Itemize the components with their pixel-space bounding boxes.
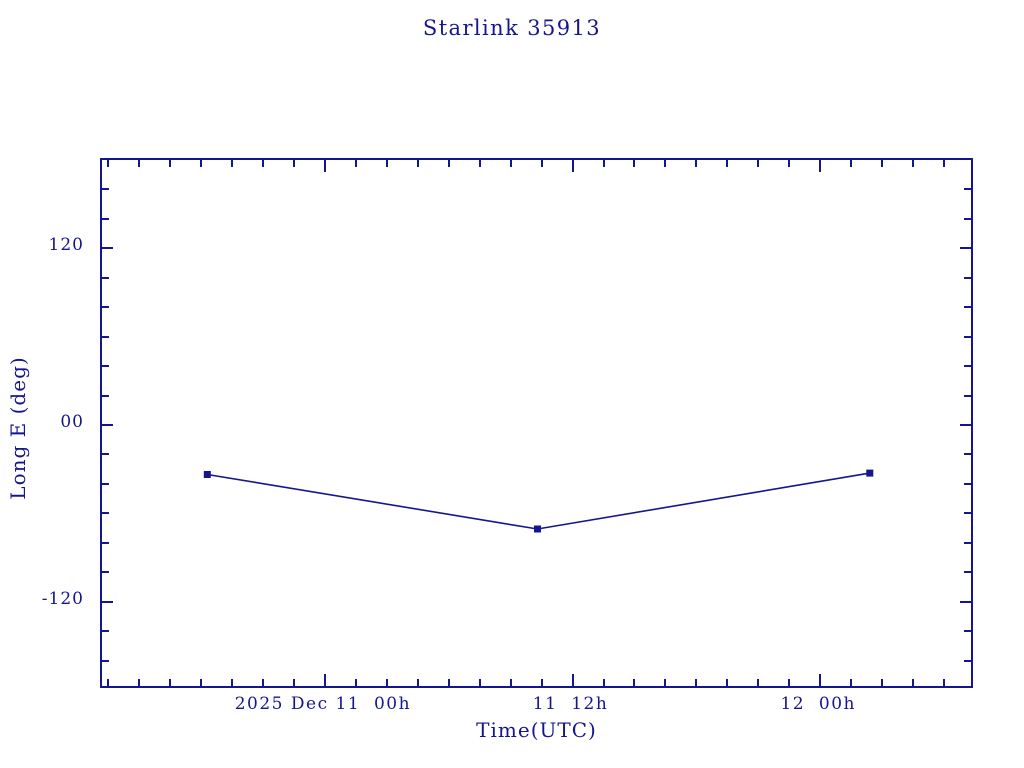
x-axis-tick — [448, 160, 450, 167]
x-axis-tick — [695, 679, 697, 686]
x-axis-tick — [943, 679, 945, 686]
x-axis-tick — [386, 679, 388, 686]
y-axis-title: Long E (deg) — [6, 328, 30, 528]
x-axis-tick — [541, 679, 543, 686]
y-axis-tick — [102, 512, 109, 514]
x-axis-tick — [572, 674, 574, 686]
y-axis-tick — [102, 306, 109, 308]
y-axis-tick — [102, 188, 109, 190]
x-axis-tick — [850, 160, 852, 167]
y-axis-tick — [102, 277, 109, 279]
x-axis-tick — [912, 160, 914, 167]
y-axis-tick — [102, 424, 113, 426]
y-axis-tick — [964, 453, 971, 455]
x-axis-tick — [726, 160, 728, 167]
y-axis-tick-label: -120 — [0, 589, 84, 609]
y-axis-tick — [964, 365, 971, 367]
y-axis-tick — [102, 336, 109, 338]
y-axis-tick — [102, 247, 113, 249]
y-axis-tick — [964, 483, 971, 485]
x-axis-tick-label: 12 00h — [780, 694, 856, 714]
x-axis-tick — [200, 160, 202, 167]
x-axis-tick — [107, 160, 109, 167]
y-axis-tick — [102, 660, 109, 662]
x-axis-tick — [819, 674, 821, 686]
x-axis-tick — [510, 679, 512, 686]
x-axis-tick — [169, 160, 171, 167]
x-axis-tick — [603, 679, 605, 686]
x-axis-tick — [881, 160, 883, 167]
y-axis-tick — [960, 247, 971, 249]
x-axis-tick — [138, 160, 140, 167]
x-axis-tick-label: 11 12h — [533, 694, 609, 714]
x-axis-tick — [169, 679, 171, 686]
x-axis-title: Time(UTC) — [100, 718, 973, 742]
x-axis-tick — [788, 679, 790, 686]
x-axis-tick — [541, 160, 543, 167]
x-axis-tick — [386, 160, 388, 167]
chart-figure: Starlink 35913 12000-1202025 Dec 11 00h1… — [0, 0, 1024, 768]
x-axis-tick — [633, 679, 635, 686]
x-axis-tick — [788, 160, 790, 167]
plot-area — [100, 158, 973, 688]
x-axis-tick — [355, 160, 357, 167]
x-axis-tick — [757, 679, 759, 686]
y-axis-tick — [964, 218, 971, 220]
y-axis-tick — [964, 336, 971, 338]
y-axis-tick — [964, 571, 971, 573]
x-axis-tick — [417, 160, 419, 167]
x-axis-tick — [417, 679, 419, 686]
y-axis-tick — [102, 395, 109, 397]
x-axis-tick — [726, 679, 728, 686]
x-axis-tick — [231, 679, 233, 686]
x-axis-tick — [448, 679, 450, 686]
y-axis-tick — [964, 395, 971, 397]
y-axis-tick — [964, 306, 971, 308]
x-axis-tick — [262, 679, 264, 686]
x-axis-tick — [324, 160, 326, 172]
x-axis-tick — [200, 679, 202, 686]
x-axis-tick — [850, 679, 852, 686]
x-axis-tick-label: 2025 Dec 11 00h — [235, 694, 411, 714]
x-axis-tick — [262, 160, 264, 167]
y-axis-tick — [964, 277, 971, 279]
x-axis-tick — [293, 160, 295, 167]
x-axis-tick — [695, 160, 697, 167]
y-axis-tick — [102, 365, 109, 367]
y-axis-tick — [102, 483, 109, 485]
y-axis-tick — [960, 424, 971, 426]
y-axis-tick — [102, 218, 109, 220]
y-axis-tick — [102, 542, 109, 544]
y-axis-tick — [960, 601, 971, 603]
y-axis-tick — [102, 630, 109, 632]
y-axis-tick — [964, 188, 971, 190]
plot-tick-layer — [102, 160, 971, 686]
y-axis-tick — [102, 601, 113, 603]
x-axis-tick — [231, 160, 233, 167]
x-axis-tick — [757, 160, 759, 167]
x-axis-tick — [633, 160, 635, 167]
y-axis-tick — [102, 571, 109, 573]
x-axis-tick — [479, 679, 481, 686]
x-axis-tick — [912, 679, 914, 686]
x-axis-tick — [572, 160, 574, 172]
x-axis-tick — [479, 160, 481, 167]
x-axis-tick — [819, 160, 821, 172]
x-axis-tick — [324, 674, 326, 686]
x-axis-tick — [355, 679, 357, 686]
x-axis-tick — [107, 679, 109, 686]
y-axis-tick-label: 120 — [0, 235, 84, 255]
x-axis-tick — [664, 679, 666, 686]
y-axis-tick — [964, 542, 971, 544]
y-axis-tick — [102, 453, 109, 455]
x-axis-tick — [664, 160, 666, 167]
y-axis-tick — [964, 630, 971, 632]
page-title: Starlink 35913 — [0, 16, 1024, 40]
x-axis-tick — [293, 679, 295, 686]
y-axis-tick — [964, 660, 971, 662]
x-axis-tick — [510, 160, 512, 167]
y-axis-tick — [964, 512, 971, 514]
x-axis-tick — [881, 679, 883, 686]
x-axis-tick — [138, 679, 140, 686]
x-axis-tick — [603, 160, 605, 167]
x-axis-tick — [943, 160, 945, 167]
